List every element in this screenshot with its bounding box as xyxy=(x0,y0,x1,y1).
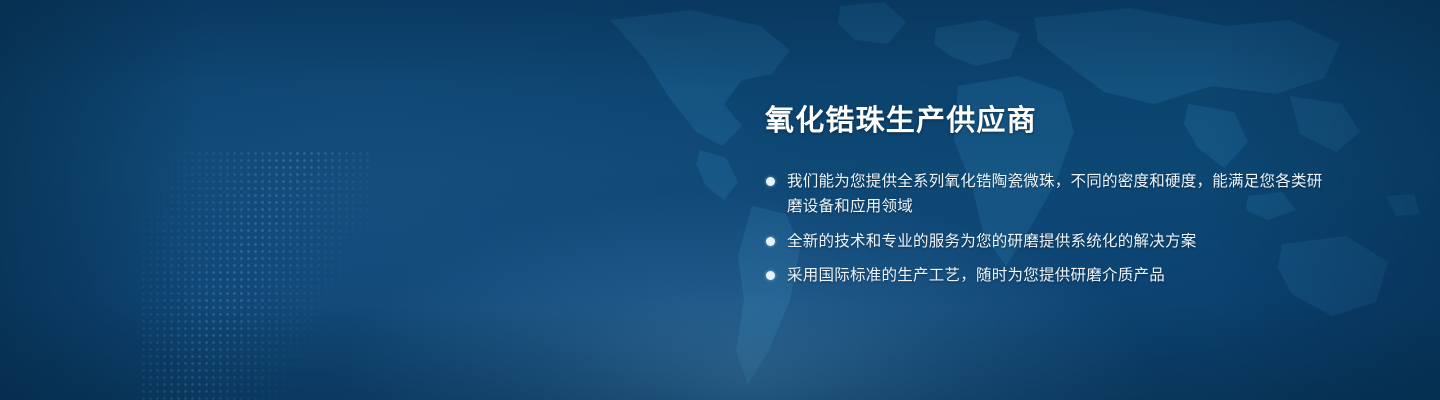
bullet-dot-icon xyxy=(766,177,775,186)
bullet-dot-icon xyxy=(766,271,775,280)
list-item: 全新的技术和专业的服务为您的研磨提供系统化的解决方案 xyxy=(765,229,1325,254)
feature-text: 我们能为您提供全系列氧化锆陶瓷微珠，不同的密度和硬度，能满足您各类研磨设备和应用… xyxy=(787,169,1325,219)
bullet-dot-icon xyxy=(766,237,775,246)
feature-text: 全新的技术和专业的服务为您的研磨提供系统化的解决方案 xyxy=(787,229,1325,254)
banner-headline: 氧化锆珠生产供应商 xyxy=(765,104,1325,139)
list-item: 采用国际标准的生产工艺，随时为您提供研磨介质产品 xyxy=(765,263,1325,288)
feature-list: 我们能为您提供全系列氧化锆陶瓷微珠，不同的密度和硬度，能满足您各类研磨设备和应用… xyxy=(765,169,1325,287)
banner-copy: 氧化锆珠生产供应商 我们能为您提供全系列氧化锆陶瓷微珠，不同的密度和硬度，能满足… xyxy=(765,104,1325,288)
feature-text: 采用国际标准的生产工艺，随时为您提供研磨介质产品 xyxy=(787,263,1325,288)
list-item: 我们能为您提供全系列氧化锆陶瓷微珠，不同的密度和硬度，能满足您各类研磨设备和应用… xyxy=(765,169,1325,219)
hero-banner: 氧化锆珠生产供应商 我们能为您提供全系列氧化锆陶瓷微珠，不同的密度和硬度，能满足… xyxy=(0,0,1440,400)
zirconia-beads-photo xyxy=(140,0,740,400)
